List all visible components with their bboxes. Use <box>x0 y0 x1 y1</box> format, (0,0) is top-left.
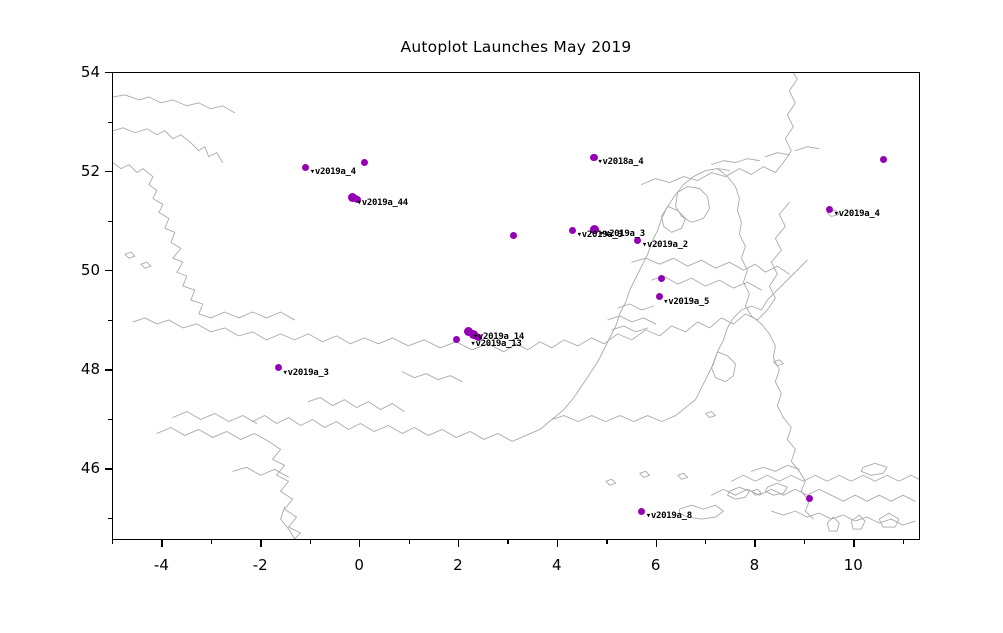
x-tick-minor <box>804 540 805 544</box>
point-label: ▾v2019a_44 <box>357 199 408 208</box>
y-tick-major <box>105 270 112 271</box>
y-tick-major <box>105 369 112 370</box>
x-tick-minor <box>310 540 311 544</box>
scatter-point[interactable] <box>658 275 665 282</box>
x-tick-label: 10 <box>844 556 863 574</box>
point-label: ▾v2019a_5 <box>663 298 709 307</box>
point-label: ▾v2019a_4 <box>310 168 356 177</box>
point-label: ▾v2019a_13 <box>470 340 521 349</box>
x-tick-major <box>161 540 162 547</box>
x-tick-major <box>557 540 558 547</box>
point-label: ▾v2019a_3 <box>599 230 645 239</box>
x-tick-label: 4 <box>552 556 562 574</box>
y-tick-major <box>105 171 112 172</box>
x-tick-major <box>260 540 261 547</box>
y-tick-label: 50 <box>60 261 100 279</box>
y-tick-major <box>105 468 112 469</box>
page-title: Autoplot Launches May 2019 <box>112 38 920 56</box>
x-tick-minor <box>409 540 410 544</box>
x-tick-minor <box>705 540 706 544</box>
y-tick-minor <box>108 419 112 420</box>
x-tick-major <box>656 540 657 547</box>
x-tick-label: 2 <box>453 556 463 574</box>
x-tick-major <box>458 540 459 547</box>
x-tick-minor <box>112 540 113 544</box>
x-tick-minor <box>211 540 212 544</box>
plot-area: ▾v2019a_44▾v2018a_4▾v2019a_3▾v2019a_3▾v2… <box>112 72 920 540</box>
scatter-point[interactable] <box>302 164 309 171</box>
x-tick-major <box>853 540 854 547</box>
scatter-point[interactable] <box>361 159 368 166</box>
x-tick-label: 0 <box>354 556 364 574</box>
point-label: ▾v2019a_8 <box>646 512 692 521</box>
y-tick-major <box>105 72 112 73</box>
point-label: ▾v2019a_4 <box>834 210 880 219</box>
x-tick-minor <box>507 540 508 544</box>
x-tick-major <box>359 540 360 547</box>
figure-canvas: Autoplot Launches May 2019 <box>0 0 1003 633</box>
y-tick-minor <box>108 221 112 222</box>
x-tick-label: -2 <box>253 556 268 574</box>
scatter-point[interactable] <box>510 232 517 239</box>
point-label: ▾v2019a_3 <box>283 369 329 378</box>
x-tick-label: 6 <box>651 556 661 574</box>
basemap-coastlines <box>113 73 919 539</box>
y-tick-label: 52 <box>60 162 100 180</box>
y-tick-label: 54 <box>60 63 100 81</box>
scatter-point[interactable] <box>826 206 833 213</box>
y-tick-label: 46 <box>60 459 100 477</box>
x-tick-label: 8 <box>750 556 760 574</box>
x-tick-minor <box>903 540 904 544</box>
x-tick-major <box>754 540 755 547</box>
y-tick-minor <box>108 122 112 123</box>
scatter-point[interactable] <box>453 336 460 343</box>
y-tick-minor <box>108 518 112 519</box>
y-tick-minor <box>108 320 112 321</box>
point-label: ▾v2019a_2 <box>642 241 688 250</box>
point-label: ▾v2018a_4 <box>597 158 643 167</box>
scatter-point[interactable] <box>656 293 663 300</box>
y-tick-label: 48 <box>60 360 100 378</box>
x-tick-label: -4 <box>154 556 169 574</box>
x-tick-minor <box>606 540 607 544</box>
